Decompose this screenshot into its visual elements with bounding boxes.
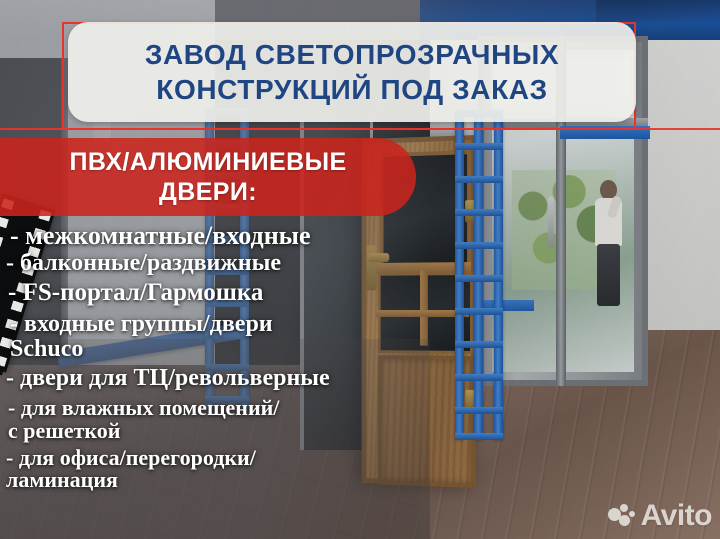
list-item: - FS-портал/Гармошка bbox=[8, 280, 434, 306]
list-item: - двери для ТЦ/револьверные bbox=[6, 366, 434, 391]
red-banner-line-2: ДВЕРИ: bbox=[159, 177, 257, 207]
headline-banner: ЗАВОД СВЕТОПРОЗРАЧНЫХ КОНСТРУКЦИЙ ПОД ЗА… bbox=[68, 22, 636, 122]
red-category-banner: ПВХ/АЛЮМИНИЕВЫЕ ДВЕРИ: bbox=[0, 138, 416, 216]
product-list: - межкомнатные/входные - балконные/раздв… bbox=[4, 222, 434, 492]
avito-dots-icon bbox=[608, 504, 636, 528]
avito-wordmark: Avito bbox=[641, 499, 712, 533]
list-item: - балконные/раздвижные bbox=[6, 251, 434, 276]
list-item: - для офиса/перегородки/ ламинация bbox=[6, 447, 434, 493]
list-item: - межкомнатные/входные bbox=[10, 222, 434, 249]
red-banner-line-1: ПВХ/АЛЮМИНИЕВЫЕ bbox=[69, 147, 346, 177]
list-item: - для влажных помещений/ с решеткой bbox=[8, 397, 434, 443]
list-item: - входные группы/двери Schuco bbox=[10, 312, 434, 362]
red-divider-line bbox=[0, 128, 720, 130]
advertisement-image: ЗАВОД СВЕТОПРОЗРАЧНЫХ КОНСТРУКЦИЙ ПОД ЗА… bbox=[0, 0, 720, 539]
headline-line-1: ЗАВОД СВЕТОПРОЗРАЧНЫХ bbox=[145, 37, 559, 72]
avito-watermark: Avito bbox=[608, 499, 712, 533]
headline-line-2: КОНСТРУКЦИЙ ПОД ЗАКАЗ bbox=[156, 72, 548, 107]
